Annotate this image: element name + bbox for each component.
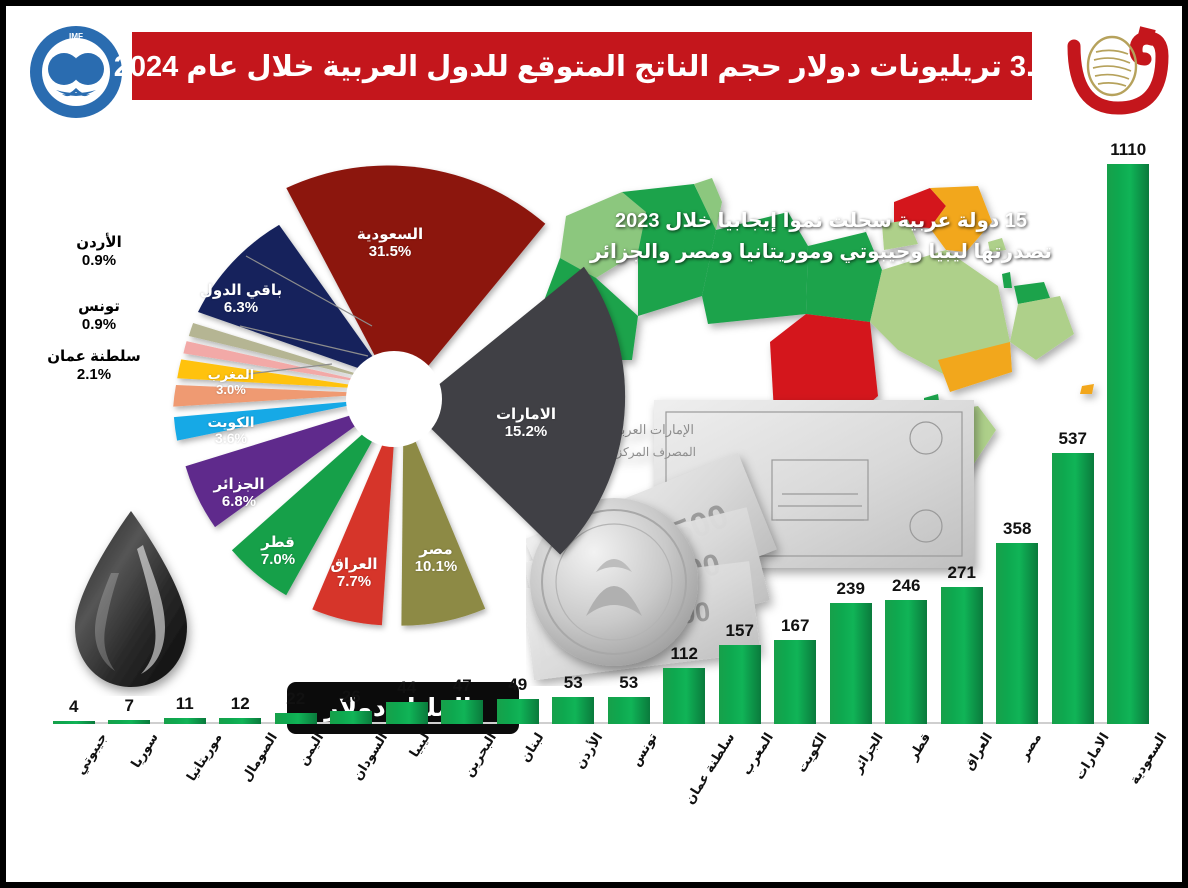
bar-column[interactable]: 49لبنان [497, 164, 539, 812]
bar-rect[interactable] [441, 700, 483, 724]
bar-value-label: 22 [286, 689, 305, 709]
bar-category-label: الكويت [794, 730, 831, 776]
bar-value-label: 49 [508, 675, 527, 695]
bar-rect[interactable] [885, 600, 927, 724]
bar-category-label: البحرين [461, 730, 500, 780]
bar-column[interactable]: 47البحرين [441, 164, 483, 812]
bar-value-label: 11 [176, 694, 194, 714]
bar-rect[interactable] [774, 640, 816, 724]
bar-value-label: 358 [1003, 519, 1031, 539]
bar-chart: 4جيبوتي7سوريا11موريتانيا12الصومال22اليمن… [46, 146, 1156, 812]
bar-column[interactable]: 358مصر [996, 164, 1038, 812]
bar-category-label: العراق [961, 730, 996, 773]
bar-rect[interactable] [996, 543, 1038, 724]
bar-value-label: 47 [453, 676, 472, 696]
bar-column[interactable]: 26السودان [330, 164, 372, 812]
bar-category-label: السعودية [1127, 730, 1171, 787]
infographic-canvas: IMF 3.5 تريليونات دولار حجم الناتج المتو… [0, 0, 1188, 888]
bar-column[interactable]: 7سوريا [108, 164, 150, 812]
bar-column[interactable]: 167الكويت [774, 164, 816, 812]
bar-category-label: اليمن [295, 730, 327, 768]
header: IMF 3.5 تريليونات دولار حجم الناتج المتو… [12, 12, 1188, 124]
bar-value-label: 26 [342, 687, 361, 707]
bar-value-label: 53 [564, 673, 583, 693]
bar-rect[interactable] [219, 718, 261, 724]
bar-category-label: لبنان [517, 730, 547, 765]
bar-column[interactable]: 112سلطنة عمان [663, 164, 705, 812]
bar-rect[interactable] [941, 587, 983, 724]
title-bar: 3.5 تريليونات دولار حجم الناتج المتوقع ل… [132, 32, 1032, 100]
bar-column[interactable]: 53تونس [608, 164, 650, 812]
bar-value-label: 157 [726, 621, 754, 641]
bar-column[interactable]: 246قطر [885, 164, 927, 812]
bar-rect[interactable] [164, 718, 206, 724]
bar-column[interactable]: 11موريتانيا [164, 164, 206, 812]
page-title: 3.5 تريليونات دولار حجم الناتج المتوقع ل… [114, 49, 1050, 84]
bar-rect[interactable] [497, 699, 539, 724]
bar-category-label: جيبوتي [72, 730, 110, 778]
bar-category-label: المغرب [738, 730, 776, 778]
bar-category-label: قطر [905, 730, 934, 763]
bar-value-label: 537 [1059, 429, 1087, 449]
bar-category-label: سوريا [128, 730, 162, 771]
arab-league-logo [1052, 16, 1184, 126]
bar-category-label: الامارات [1071, 730, 1112, 783]
bar-column[interactable]: 22اليمن [275, 164, 317, 812]
imf-logo-top-text: IMF [69, 32, 83, 41]
bar-value-label: 7 [125, 696, 134, 716]
bar-category-label: ليبيا [406, 730, 433, 760]
bar-column[interactable]: 537الامارات [1052, 164, 1094, 812]
bar-category-label: الجزائر [849, 730, 886, 776]
bar-value-label: 246 [892, 576, 920, 596]
bar-column[interactable]: 44ليبيا [386, 164, 428, 812]
bar-category-label: مصر [1016, 730, 1045, 763]
bar-rect[interactable] [1052, 453, 1094, 724]
bar-column[interactable]: 157المغرب [719, 164, 761, 812]
bar-value-label: 12 [231, 694, 250, 714]
bar-rect[interactable] [53, 721, 95, 724]
bar-rect[interactable] [1107, 164, 1149, 724]
bar-column[interactable]: 239الجزائر [830, 164, 872, 812]
bar-rect[interactable] [830, 603, 872, 724]
bar-column[interactable]: 1110السعودية [1107, 164, 1149, 812]
bar-column[interactable]: 12الصومال [219, 164, 261, 812]
bar-rect[interactable] [330, 711, 372, 724]
bar-rect[interactable] [663, 668, 705, 725]
bar-rect[interactable] [386, 702, 428, 724]
bar-value-label: 239 [837, 579, 865, 599]
bar-value-label: 112 [671, 644, 698, 664]
bar-value-label: 1110 [1110, 140, 1146, 160]
bar-rect[interactable] [719, 645, 761, 724]
bar-rect[interactable] [108, 720, 150, 724]
bar-value-label: 53 [619, 673, 638, 693]
bar-column[interactable]: 53الأردن [552, 164, 594, 812]
bar-value-label: 167 [781, 616, 809, 636]
bar-rect[interactable] [552, 697, 594, 724]
bar-value-label: 4 [69, 697, 78, 717]
imf-logo: IMF [26, 22, 126, 122]
bar-category-label: تونس [628, 730, 661, 769]
bar-value-label: 271 [948, 563, 976, 583]
bar-rect[interactable] [608, 697, 650, 724]
bar-rect[interactable] [275, 713, 317, 724]
bar-column[interactable]: 4جيبوتي [53, 164, 95, 812]
bar-column[interactable]: 271العراق [941, 164, 983, 812]
bar-category-label: الأردن [572, 730, 606, 772]
bar-value-label: 44 [397, 678, 416, 698]
